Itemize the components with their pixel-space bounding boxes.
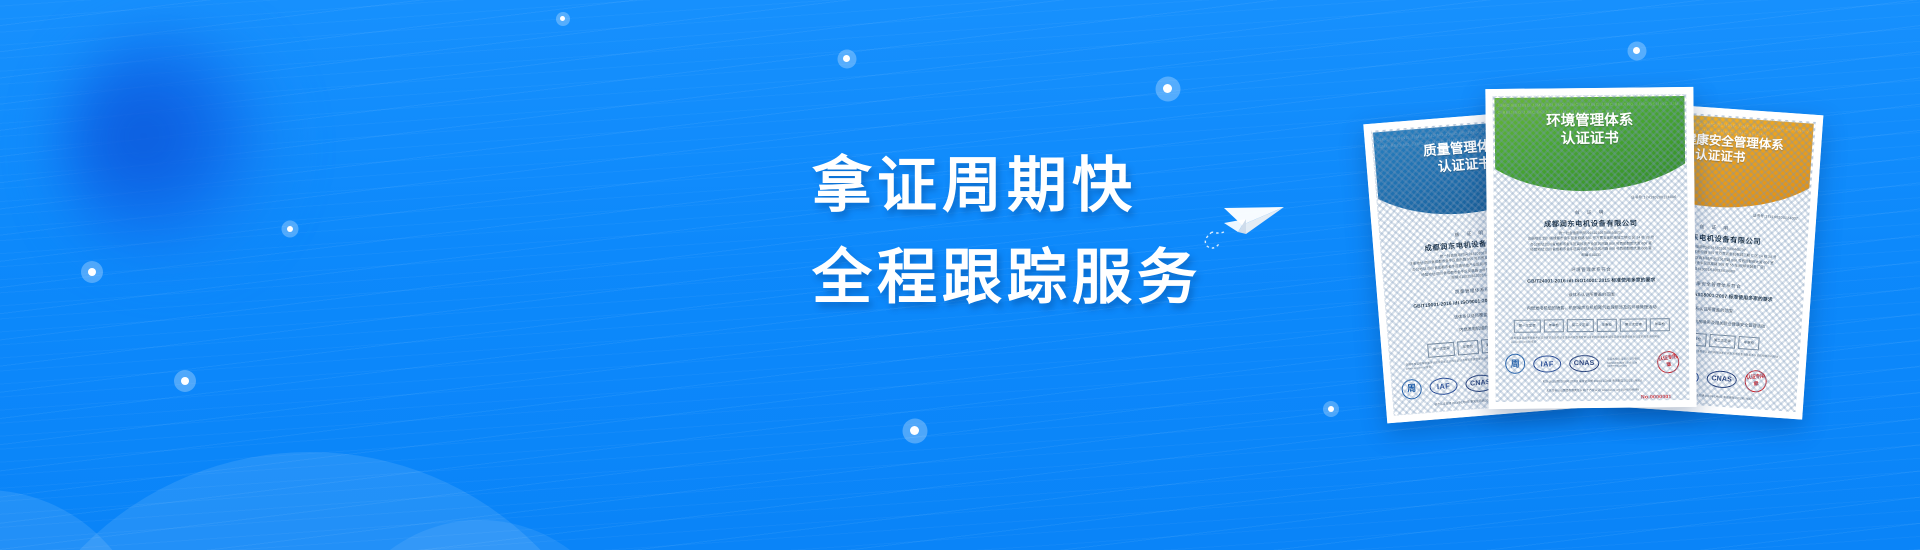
decorative-dot [843, 55, 850, 62]
scope-label: 该体系认证所覆盖的范围 [1504, 290, 1678, 299]
scope-text: 内燃发电机组的销售、机房噪声及机组尾气处理所涉及的环境管理活动 [1505, 303, 1679, 312]
audit-box: 年审检 [1457, 340, 1478, 355]
certify-label: 兹 证 明 [1504, 208, 1678, 217]
decorative-dot [181, 377, 189, 385]
decorative-dot [287, 226, 293, 232]
decorative-dot [1328, 406, 1334, 412]
audit-box: 年审检 [1597, 318, 1617, 332]
system-label: 环境管理体系符合 [1504, 265, 1678, 274]
certificate-number: 证书号:174190200124006 [1631, 194, 1677, 201]
certificate-serial: No.0000001 [1506, 395, 1680, 400]
headline-line-2: 全程跟踪服务 [812, 232, 1202, 324]
issue-info: 初次认证日期:2018年1月8日 重发证日期:2019年1月8日 有效期至:20… [1505, 379, 1679, 385]
company-name: 成都润东电机设备有限公司 [1504, 219, 1678, 228]
audit-box: 第三次定审 [1620, 318, 1647, 332]
accreditation-logos: 周 IAF CNAS 认证机构 认证标识 认可标识 MANAGEMENT SYS… [1505, 352, 1679, 376]
cnas-logo-icon: CNAS [1569, 355, 1599, 372]
decorative-dot [88, 268, 96, 276]
certificate-title-line2: 认证证书 [1495, 130, 1685, 150]
audit-box: 第二次定审 [1708, 333, 1736, 349]
audit-box: 年审检 [1650, 318, 1670, 332]
certificate-title-environment: 环境管理体系 认证证书 [1495, 112, 1685, 149]
paper-plane-icon [1198, 186, 1288, 254]
audit-box: 年审检 [1544, 319, 1564, 333]
iaf-logo-icon: IAF [1429, 377, 1458, 396]
background-glow-blob [60, 30, 280, 265]
red-stamp-icon: 认证专用章 [1656, 350, 1681, 375]
certification-seal-icon: 周 [1401, 378, 1423, 400]
certificate-header-environment: JJMC BEIJING JJMC BEIJING JJMC BEIJING J… [1494, 96, 1685, 201]
decorative-dot [1633, 47, 1640, 54]
fine-print: 定期年度监视审核复评认证评定本企业的认证证书有效性请登录认证机构网站查询,获取其… [1505, 336, 1679, 346]
decorative-dot [910, 426, 919, 435]
audit-box: 年审检 [1738, 336, 1759, 351]
certificate-environment[interactable]: JJMC BEIJING JJMC BEIJING JJMC BEIJING J… [1485, 87, 1696, 409]
banner-headline: 拿证周期快 全程跟踪服务 [812, 140, 1202, 324]
iaf-logo-icon: IAF [1533, 355, 1561, 372]
certificate-body-environment: 证书号:174190200124006 兹 证 明 成都润东电机设备有限公司 统… [1496, 208, 1688, 400]
certificate-title-line1: 环境管理体系 [1495, 112, 1685, 132]
logo-caption: 认证机构 认证标识 认可标识 MANAGEMENT SYSTEM CERTIFI… [1607, 358, 1649, 369]
audit-box-row: 第一次定审 年审检 第二次定审 年审检 第三次定审 年审检 [1505, 318, 1679, 334]
issuer-info: 北京世标认证集团有限责任公司(十方信认证) www.bzcrc.org 010-… [1505, 388, 1679, 394]
headline-line-1: 拿证周期快 [812, 140, 1202, 232]
decorative-dot [560, 16, 565, 21]
promo-banner: 拿证周期快 全程跟踪服务 JJMC BEIJING JJMC BEIJING J… [0, 0, 1920, 550]
certificate-group: JJMC BEIJING JJMC BEIJING JJMC BEIJING J… [1375, 88, 1920, 468]
audit-box: 第二次定审 [1567, 319, 1594, 333]
red-stamp-icon: 认证专用章 [1744, 370, 1768, 394]
audit-box: 第一次定审 [1427, 342, 1455, 358]
decorative-dot [1163, 84, 1172, 93]
certification-seal-icon: 周 [1505, 354, 1525, 374]
standard-text: GB/T24001-2016 idt ISO14001:2015 标准使用多家的… [1504, 277, 1678, 286]
cnas-logo-icon: CNAS [1706, 370, 1737, 389]
audit-box: 第一次定审 [1514, 319, 1541, 333]
